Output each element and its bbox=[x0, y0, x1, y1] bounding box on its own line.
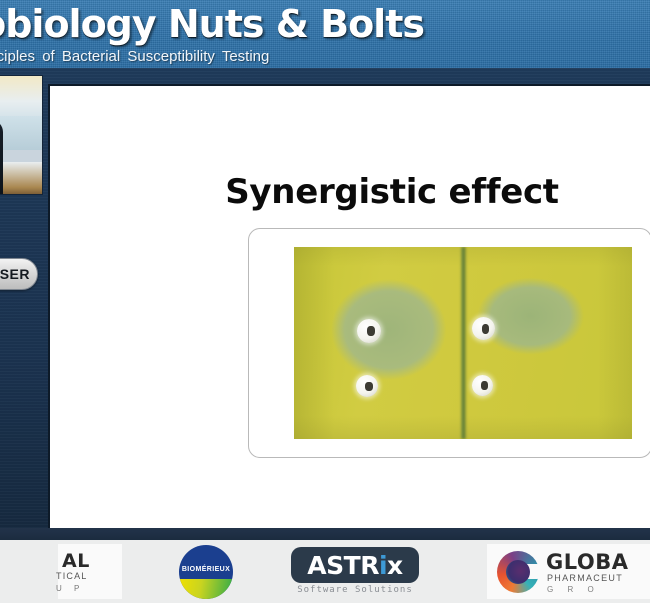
logo-line-3: U P bbox=[56, 584, 84, 593]
global-swirl-icon bbox=[497, 551, 539, 593]
sponsor-logo-global-pharmaceutical-left[interactable]: AL TICAL U P bbox=[0, 540, 122, 603]
sponsor-logo-astrix[interactable]: ASTR i x Software Solutions bbox=[285, 540, 425, 603]
astrix-word-astr: ASTR bbox=[307, 551, 379, 580]
slide-title: Synergistic effect bbox=[50, 172, 650, 212]
biomerieux-wordmark: BIOMÉRIEUX bbox=[179, 566, 233, 573]
sidebar: BROWSER bbox=[0, 68, 48, 540]
thumbnail-desk bbox=[0, 162, 43, 195]
logo-line-1: GLOBA bbox=[546, 550, 628, 574]
antibiotic-disc-top-right bbox=[472, 317, 495, 340]
antibiotic-disc-bottom-left bbox=[356, 375, 378, 397]
disc-marking bbox=[481, 381, 488, 390]
browser-button[interactable]: BROWSER bbox=[0, 258, 38, 290]
logo-line-1: AL bbox=[62, 550, 90, 572]
page-header: Microbiology Nuts & Bolts Principles of … bbox=[0, 0, 650, 68]
webinar-player-page: Microbiology Nuts & Bolts Principles of … bbox=[0, 0, 650, 603]
browser-button-label: BROWSER bbox=[0, 266, 30, 282]
disc-marking bbox=[482, 324, 490, 334]
logo-line-3: G R O bbox=[547, 585, 600, 594]
astrix-tagline: Software Solutions bbox=[291, 585, 419, 595]
sponsor-logo-global-pharmaceutical-right[interactable]: GLOBA PHARMACEUT G R O bbox=[487, 540, 650, 603]
brand-title: Microbiology Nuts & Bolts bbox=[0, 2, 424, 46]
slide-image-frame bbox=[248, 228, 650, 458]
slide-panel[interactable]: Synergistic effect bbox=[48, 84, 650, 534]
brand-subtitle: Principles of Bacterial Susceptibility T… bbox=[0, 48, 269, 65]
sponsor-footer: AL TICAL U P BIOMÉRIEUX ASTR i x Softwar… bbox=[0, 540, 650, 603]
antibiotic-disc-bottom-right bbox=[472, 375, 493, 396]
astrix-person-i-icon: i bbox=[379, 551, 387, 580]
plate-divider-line bbox=[460, 247, 467, 439]
biomerieux-circle-mark: BIOMÉRIEUX bbox=[179, 545, 233, 599]
sponsor-logo-biomerieux[interactable]: BIOMÉRIEUX bbox=[170, 540, 248, 603]
biomerieux-gradient-arc bbox=[179, 579, 233, 599]
agar-plate-photo bbox=[294, 247, 632, 439]
player-body: BROWSER Synergistic effect bbox=[0, 68, 650, 540]
logo-line-2: PHARMACEUT bbox=[547, 573, 623, 583]
disc-marking bbox=[367, 326, 375, 336]
antibiotic-disc-top-left bbox=[357, 319, 381, 343]
logo-line-2: TICAL bbox=[56, 571, 88, 581]
presenter-figure bbox=[0, 120, 3, 195]
thumbnail-background-wall bbox=[0, 116, 43, 150]
disc-marking bbox=[365, 382, 372, 391]
presenter-video-thumbnail[interactable] bbox=[0, 75, 43, 195]
astrix-word-x: x bbox=[387, 551, 403, 580]
astrix-wordmark: ASTR i x bbox=[291, 547, 419, 583]
